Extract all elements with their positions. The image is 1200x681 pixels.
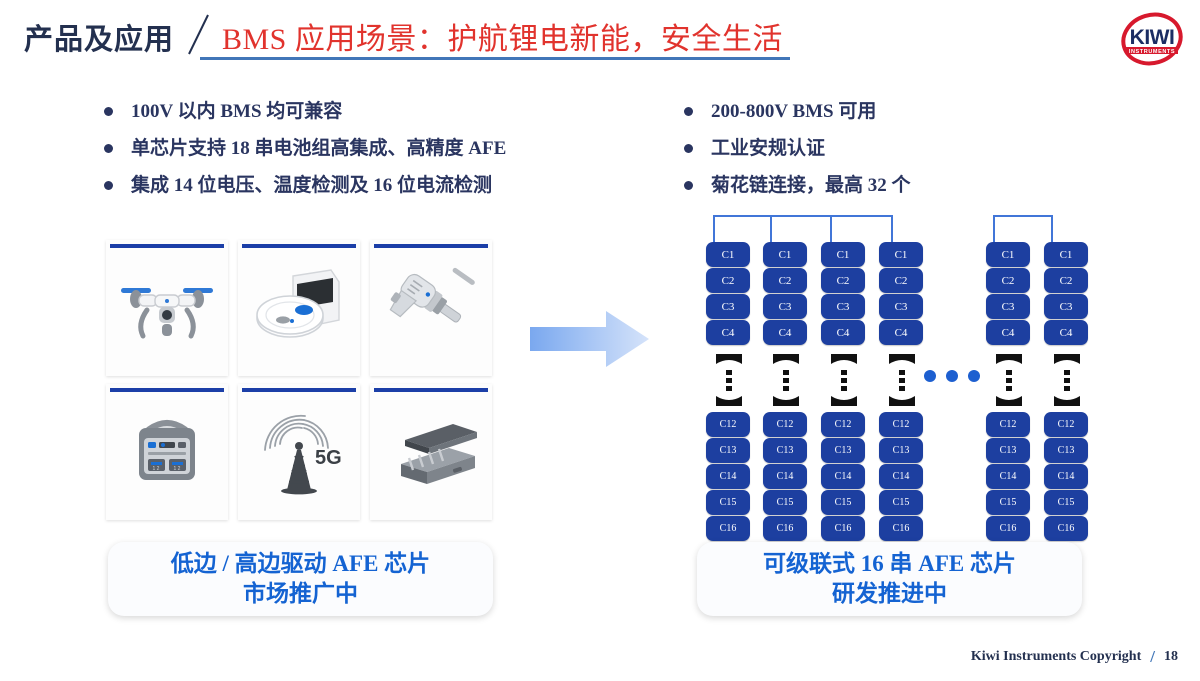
cell-block: C15 — [763, 490, 807, 515]
cell-block: C12 — [763, 412, 807, 437]
bullet-text: 200-800V BMS 可用 — [711, 100, 1114, 124]
cell-block: C3 — [821, 294, 865, 319]
cell-block: C13 — [1044, 438, 1088, 463]
product-tile — [106, 240, 228, 376]
product-tile — [370, 240, 492, 376]
cell-block: C2 — [706, 268, 750, 293]
bullet-text: 菊花链连接，最高 32 个 — [711, 174, 1114, 198]
cell-block: C16 — [821, 516, 865, 541]
cell-block: C15 — [1044, 490, 1088, 515]
cell-block: C4 — [1044, 320, 1088, 345]
cell-block: C14 — [879, 464, 923, 489]
cell-block: C1 — [706, 242, 750, 267]
cell-block: C3 — [706, 294, 750, 319]
cascade-cell-diagram: C1 C2 C3 C4 C12 C13 C14 C15 C16 C1 C2 C3… — [690, 212, 1090, 532]
svg-text:INSTRUMENTS: INSTRUMENTS — [1129, 49, 1175, 55]
right-bullet-list: 200-800V BMS 可用 工业安规认证 菊花链连接，最高 32 个 — [684, 100, 1114, 210]
cell-block: C13 — [821, 438, 865, 463]
product-tile — [370, 384, 492, 520]
cell-block: C14 — [1044, 464, 1088, 489]
footer-copyright: Kiwi Instruments Copyright — [971, 649, 1141, 665]
cell-block: C2 — [821, 268, 865, 293]
svg-text:1 2: 1 2 — [174, 466, 181, 472]
portable-power-station-icon: 1 2 1 2 — [115, 406, 219, 498]
bullet-dot-icon — [104, 107, 113, 116]
cell-block: C4 — [879, 320, 923, 345]
cell-block: C15 — [821, 490, 865, 515]
drone-icon — [115, 262, 219, 354]
list-item: 单芯片支持 18 串电池组高集成、高精度 AFE — [104, 137, 574, 161]
cell-block: C16 — [706, 516, 750, 541]
cell-ellipsis-icon — [829, 352, 859, 408]
cell-column: C1 C2 C3 C4 C12 C13 C14 C15 C16 — [986, 242, 1030, 542]
cell-block: C2 — [1044, 268, 1088, 293]
cell-ellipsis-icon — [771, 352, 801, 408]
cell-block: C16 — [986, 516, 1030, 541]
caption-line-2: 市场推广中 — [243, 579, 358, 609]
cell-block: C1 — [879, 242, 923, 267]
cell-column: C1 C2 C3 C4 C12 C13 C14 C15 C16 — [1044, 242, 1088, 542]
cell-block: C4 — [706, 320, 750, 345]
cell-ellipsis-icon — [994, 352, 1024, 408]
cell-block: C14 — [763, 464, 807, 489]
cell-block: C3 — [1044, 294, 1088, 319]
cell-block: C16 — [763, 516, 807, 541]
right-arrow-icon — [530, 308, 650, 370]
caption-line-1: 可级联式 16 串 AFE 芯片 — [763, 549, 1016, 579]
product-image-grid: 1 2 1 2 5G — [106, 240, 492, 520]
caption-line-2: 研发推进中 — [832, 579, 947, 609]
busbar-group-a — [700, 212, 900, 246]
cell-block: C15 — [879, 490, 923, 515]
cell-block: C12 — [986, 412, 1030, 437]
slide-header: 产品及应用 BMS 应用场景：护航锂电新能，安全生活 — [0, 0, 1200, 80]
bullet-text: 单芯片支持 18 串电池组高集成、高精度 AFE — [131, 137, 574, 161]
cell-block: C4 — [763, 320, 807, 345]
slide-root: 产品及应用 BMS 应用场景：护航锂电新能，安全生活 KIWI INSTRUME… — [0, 0, 1200, 681]
bullet-dot-icon — [104, 181, 113, 190]
page-title: BMS 应用场景：护航锂电新能，安全生活 — [222, 14, 783, 58]
bullet-dot-icon — [684, 107, 693, 116]
robot-vacuum-icon — [247, 262, 351, 354]
bullet-text: 100V 以内 BMS 均可兼容 — [131, 100, 574, 124]
bullet-dot-icon — [684, 181, 693, 190]
left-caption-pill: 低边 / 高边驱动 AFE 芯片 市场推广中 — [108, 542, 493, 616]
cell-block: C16 — [879, 516, 923, 541]
bullet-text: 工业安规认证 — [711, 137, 1114, 161]
bullet-dot-icon — [684, 144, 693, 153]
product-tile — [238, 240, 360, 376]
bullet-dot-icon — [104, 144, 113, 153]
cell-block: C15 — [706, 490, 750, 515]
header-kicker: 产品及应用 — [24, 16, 174, 58]
cell-block: C1 — [1044, 242, 1088, 267]
cell-block: C13 — [763, 438, 807, 463]
cell-block: C12 — [879, 412, 923, 437]
product-tile: 5G — [238, 384, 360, 520]
header-underline — [200, 57, 790, 60]
cell-block: C3 — [879, 294, 923, 319]
list-item: 工业安规认证 — [684, 137, 1114, 161]
busbar-group-b — [980, 212, 1070, 246]
list-item: 集成 14 位电压、温度检测及 16 位电流检测 — [104, 174, 574, 198]
cell-block: C1 — [763, 242, 807, 267]
product-tile: 1 2 1 2 — [106, 384, 228, 520]
cell-ellipsis-icon — [887, 352, 917, 408]
cell-column: C1 C2 C3 C4 C12 C13 C14 C15 C16 — [879, 242, 923, 542]
list-item: 200-800V BMS 可用 — [684, 100, 1114, 124]
cell-block: C1 — [986, 242, 1030, 267]
battery-pack-icon — [379, 406, 483, 498]
group-ellipsis-icon — [924, 370, 980, 382]
header-slash-icon — [186, 13, 214, 56]
cell-column: C1 C2 C3 C4 C12 C13 C14 C15 C16 — [821, 242, 865, 542]
cell-block: C1 — [821, 242, 865, 267]
bullet-text: 集成 14 位电压、温度检测及 16 位电流检测 — [131, 174, 574, 198]
cell-block: C2 — [763, 268, 807, 293]
cell-block: C2 — [986, 268, 1030, 293]
kiwi-logo: KIWI INSTRUMENTS — [1112, 8, 1192, 70]
svg-text:5G: 5G — [315, 447, 342, 469]
list-item: 菊花链连接，最高 32 个 — [684, 174, 1114, 198]
cell-block: C4 — [821, 320, 865, 345]
page-number: 18 — [1164, 649, 1178, 665]
cell-block: C4 — [986, 320, 1030, 345]
cell-block: C13 — [986, 438, 1030, 463]
footer-separator: / — [1150, 647, 1155, 667]
slide-footer: Kiwi Instruments Copyright / 18 — [971, 647, 1178, 667]
cell-block: C14 — [986, 464, 1030, 489]
cell-column: C1 C2 C3 C4 C12 C13 C14 C15 C16 — [763, 242, 807, 542]
cell-block: C16 — [1044, 516, 1088, 541]
5g-tower-icon: 5G — [247, 406, 351, 498]
cell-column: C1 C2 C3 C4 C12 C13 C14 C15 C16 — [706, 242, 750, 542]
svg-text:KIWI: KIWI — [1130, 26, 1175, 49]
cell-block: C14 — [706, 464, 750, 489]
cell-ellipsis-icon — [714, 352, 744, 408]
cell-block: C13 — [706, 438, 750, 463]
cell-block: C2 — [879, 268, 923, 293]
cell-block: C15 — [986, 490, 1030, 515]
svg-text:1 2: 1 2 — [153, 466, 160, 472]
power-drill-icon — [379, 262, 483, 354]
cell-block: C12 — [821, 412, 865, 437]
cell-block: C12 — [706, 412, 750, 437]
cell-block: C13 — [879, 438, 923, 463]
left-bullet-list: 100V 以内 BMS 均可兼容 单芯片支持 18 串电池组高集成、高精度 AF… — [104, 100, 574, 210]
caption-line-1: 低边 / 高边驱动 AFE 芯片 — [171, 549, 430, 579]
cell-block: C12 — [1044, 412, 1088, 437]
list-item: 100V 以内 BMS 均可兼容 — [104, 100, 574, 124]
cell-ellipsis-icon — [1052, 352, 1082, 408]
cell-block: C3 — [986, 294, 1030, 319]
cell-block: C3 — [763, 294, 807, 319]
right-caption-pill: 可级联式 16 串 AFE 芯片 研发推进中 — [697, 542, 1082, 616]
cell-block: C14 — [821, 464, 865, 489]
